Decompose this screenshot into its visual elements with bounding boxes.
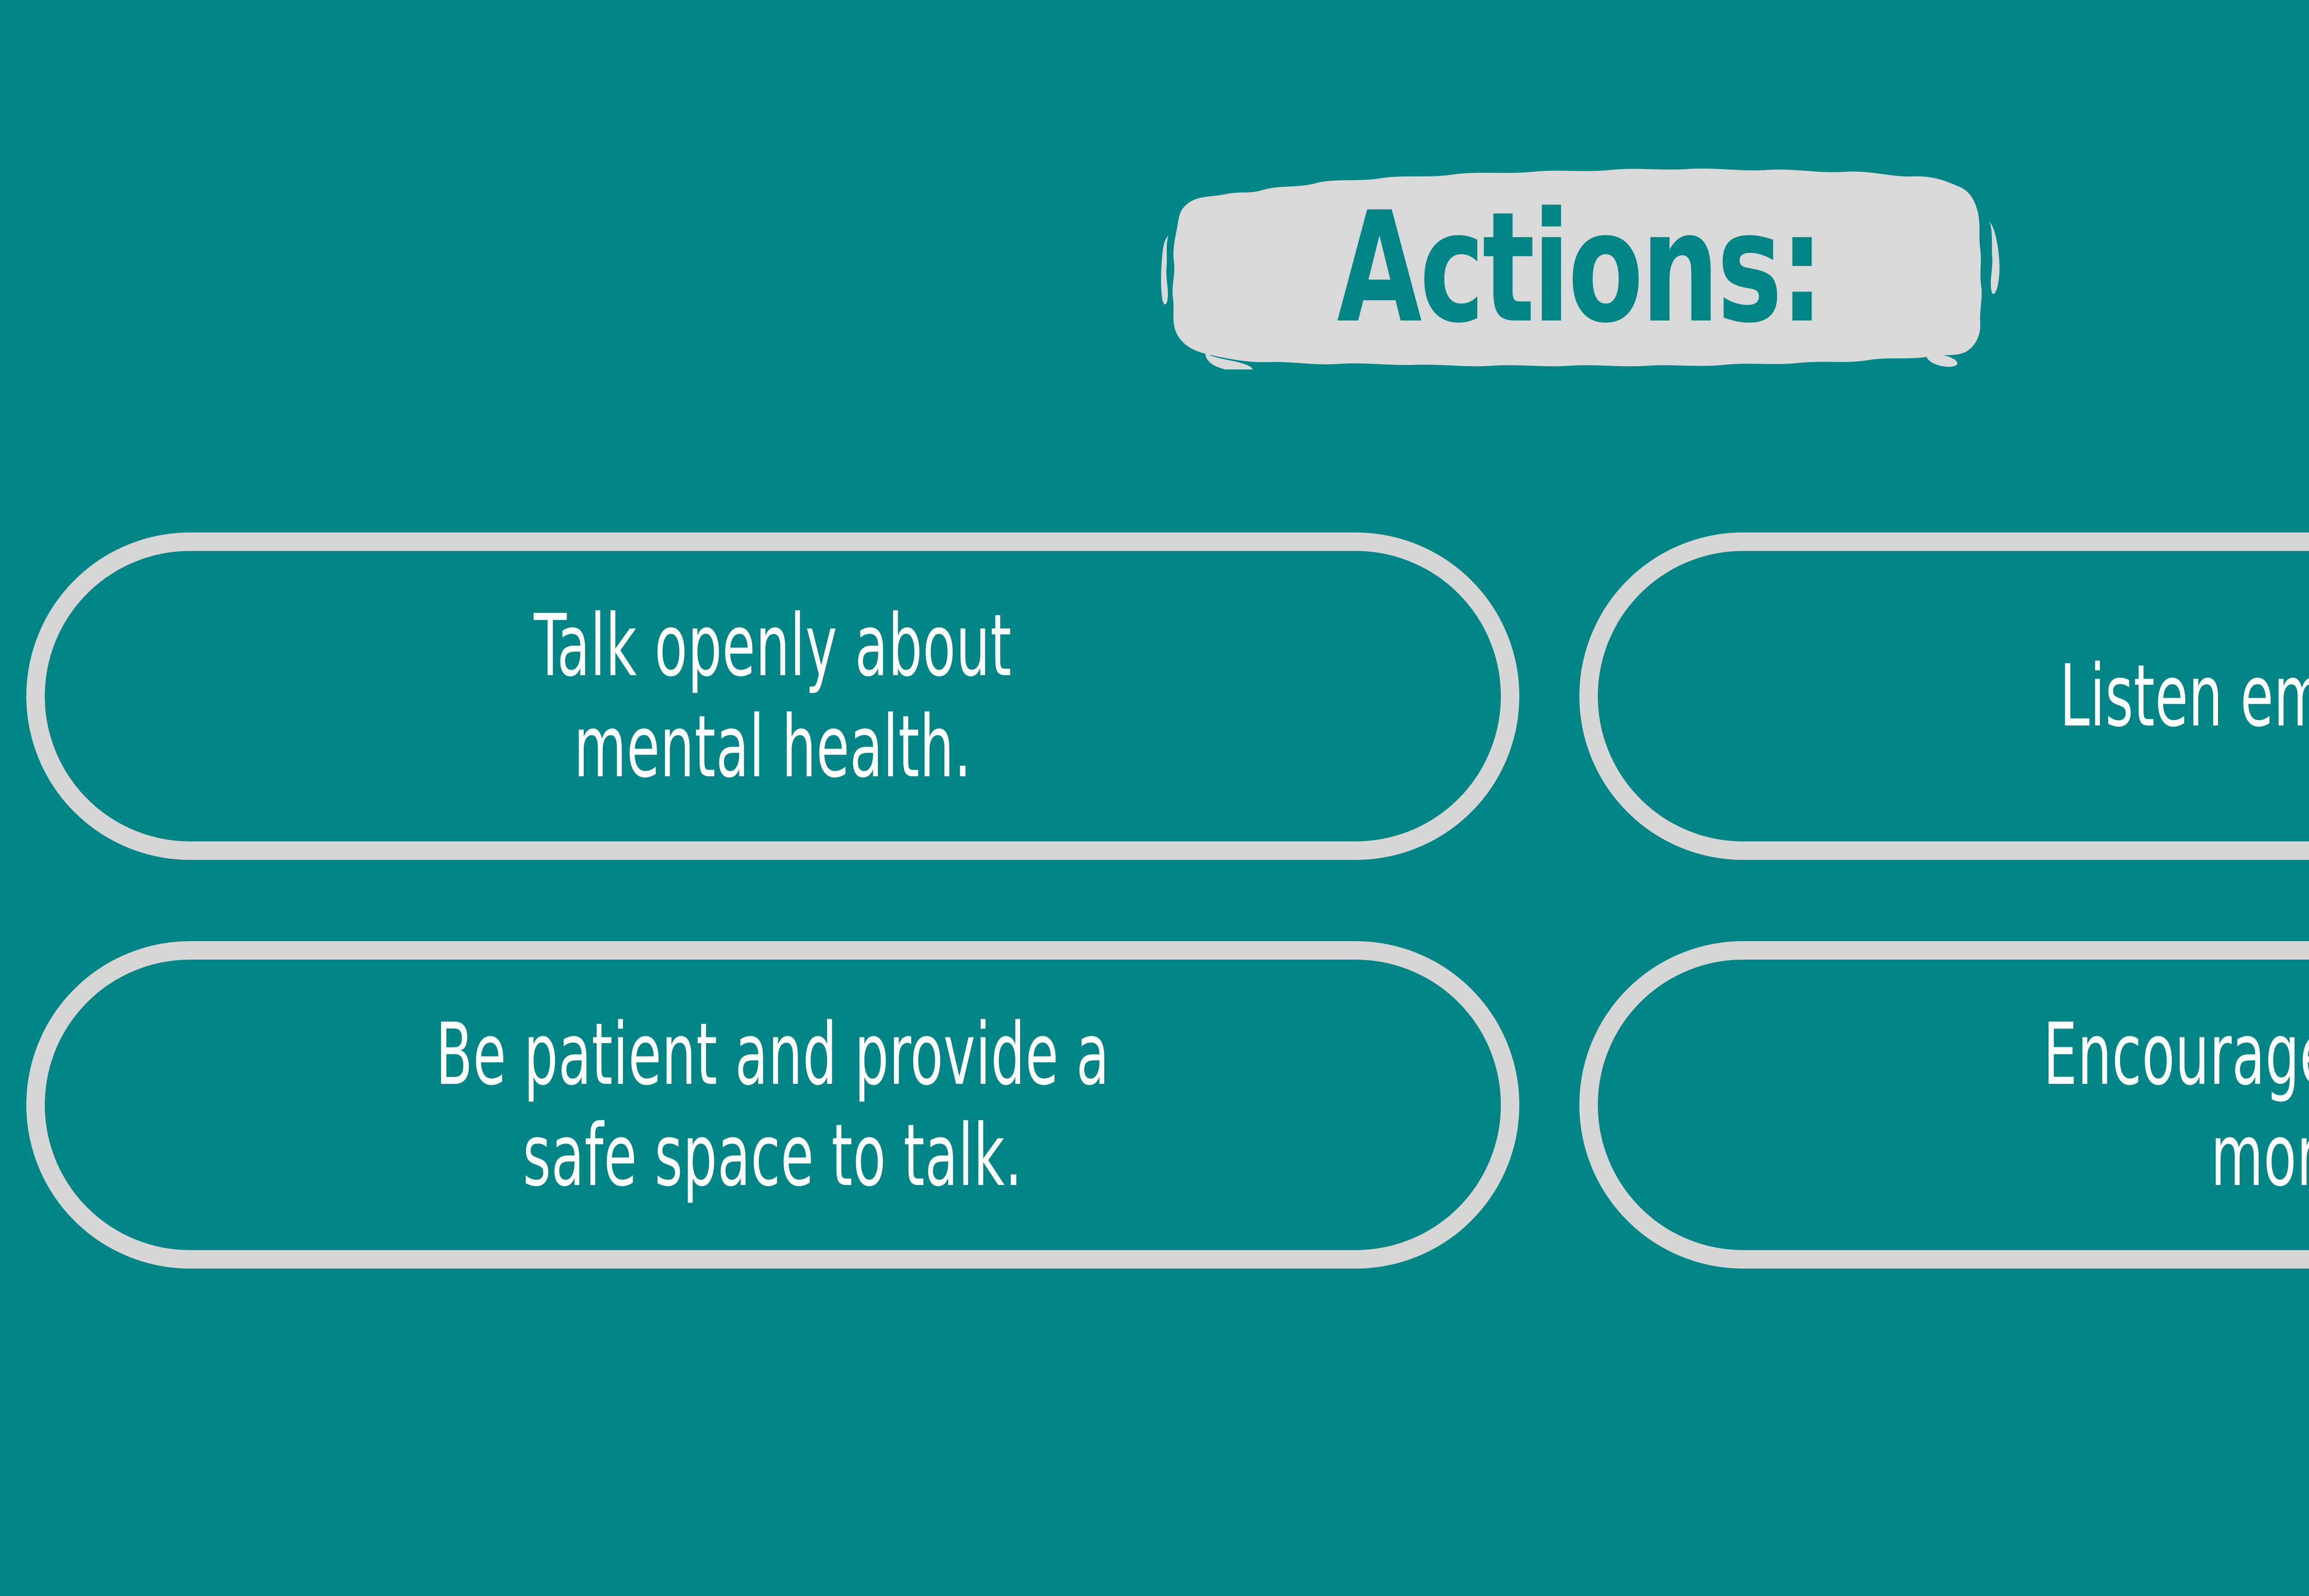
action-card-talk-openly[interactable]: Talk openly about mental health.	[26, 532, 1519, 860]
action-card-label: Listen empathetically.	[2060, 646, 2309, 746]
action-card-encourage-help[interactable]: Encourage them to get more help.	[1579, 941, 2309, 1269]
slide-canvas: Actions: Talk openly about mental health…	[0, 0, 2309, 1596]
page-title: Actions:	[1228, 166, 1930, 369]
action-card-label: Encourage them to get more help.	[2043, 1004, 2309, 1206]
action-card-be-patient[interactable]: Be patient and provide a safe space to t…	[26, 941, 1519, 1269]
action-card-listen-empathetically[interactable]: Listen empathetically.	[1579, 532, 2309, 860]
page-title-block: Actions:	[1141, 166, 2018, 369]
action-card-label: Be patient and provide a safe space to t…	[436, 1004, 1110, 1206]
action-card-label: Talk openly about mental health.	[534, 595, 1012, 797]
